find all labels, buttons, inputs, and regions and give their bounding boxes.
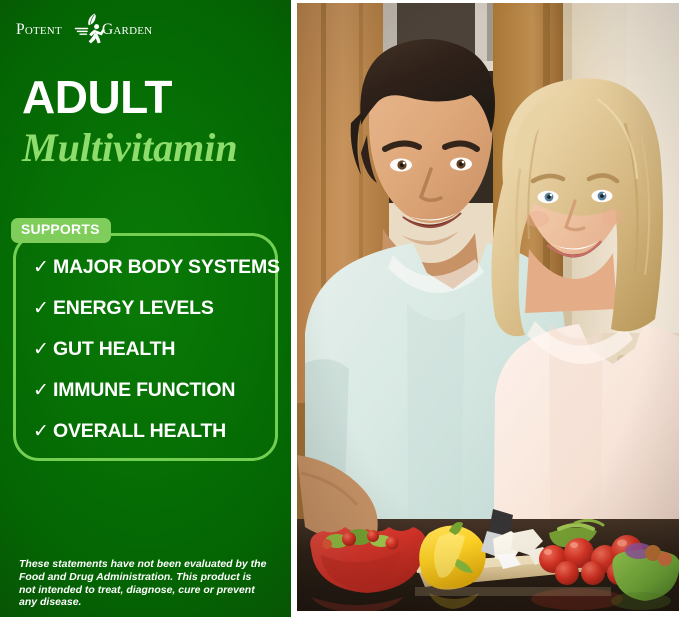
checkmark-icon: ✓ [33, 381, 53, 400]
product-title-primary: ADULT [22, 74, 172, 120]
list-item-label: ENERGY LEVELS [53, 297, 214, 320]
list-item-label: OVERALL HEALTH [53, 420, 226, 443]
supports-tab-label: SUPPORTS [21, 221, 100, 237]
list-item: ✓ ENERGY LEVELS [13, 288, 278, 329]
brand-name-left: Potent [16, 22, 62, 38]
list-item: ✓ IMMUNE FUNCTION [13, 370, 278, 411]
list-item-label: IMMUNE FUNCTION [53, 379, 235, 402]
brand-logo: Potent Garden [16, 14, 166, 48]
list-item-label: MAJOR BODY SYSTEMS [53, 256, 280, 279]
checkmark-icon: ✓ [33, 340, 53, 359]
supports-benefit-list: ✓ MAJOR BODY SYSTEMS ✓ ENERGY LEVELS ✓ G… [13, 247, 278, 452]
list-item-label: GUT HEALTH [53, 338, 175, 361]
green-info-panel: Potent Garden ADULT Multivitamin [0, 0, 291, 617]
brand-name-right: Garden [102, 22, 152, 38]
product-title-secondary: Multivitamin [22, 128, 238, 168]
list-item: ✓ MAJOR BODY SYSTEMS [13, 247, 278, 288]
supports-tab: SUPPORTS [11, 218, 111, 243]
fda-disclaimer-text: These statements have not been evaluated… [19, 558, 267, 609]
checkmark-icon: ✓ [33, 422, 53, 441]
lifestyle-photo [297, 3, 679, 611]
checkmark-icon: ✓ [33, 258, 53, 277]
product-label-image: Potent Garden ADULT Multivitamin [0, 0, 679, 617]
list-item: ✓ GUT HEALTH [13, 329, 278, 370]
checkmark-icon: ✓ [33, 299, 53, 318]
list-item: ✓ OVERALL HEALTH [13, 411, 278, 452]
